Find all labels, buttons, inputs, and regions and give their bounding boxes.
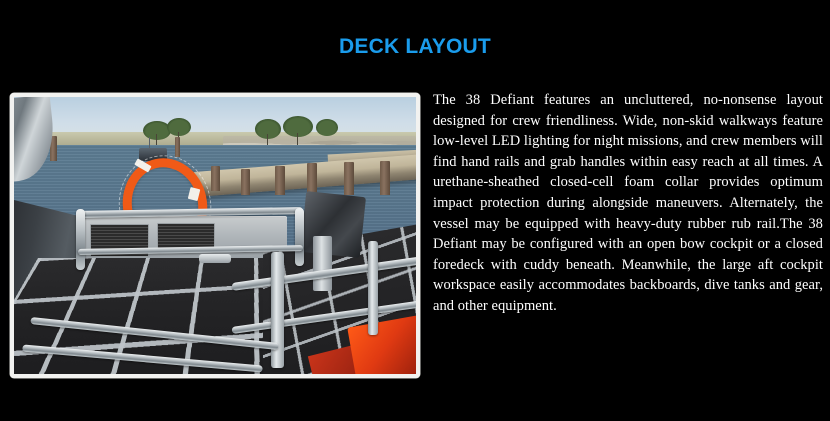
- photo-rail-post: [368, 241, 378, 335]
- photo-piling: [241, 169, 250, 195]
- content-row: The 38 Defiant features an uncluttered, …: [0, 90, 830, 390]
- page-title: DECK LAYOUT: [0, 34, 830, 60]
- photo-hand-rail: [76, 209, 85, 270]
- photo-equipment-post: [313, 236, 331, 291]
- photo-piling: [380, 161, 390, 196]
- photo-tree-trunk: [267, 134, 268, 145]
- photo-hand-rail: [295, 208, 304, 266]
- photo-mounted-equipment: [300, 191, 366, 258]
- photo-tree-trunk: [297, 133, 298, 145]
- photo-piling: [307, 163, 317, 193]
- photo-piling: [275, 166, 285, 195]
- deck-layout-photo: [14, 97, 416, 374]
- photo-tree: [255, 119, 281, 138]
- deck-layout-description: The 38 Defiant features an uncluttered, …: [433, 90, 823, 317]
- photo-piling: [175, 137, 181, 156]
- photo-tree: [316, 119, 338, 136]
- photo-tree-trunk: [156, 134, 157, 145]
- photo-piling: [211, 166, 220, 191]
- deck-layout-photo-frame: [10, 93, 420, 378]
- photo-piling: [344, 162, 354, 195]
- photo-rail-post: [271, 252, 284, 368]
- photo-cleat: [199, 254, 231, 264]
